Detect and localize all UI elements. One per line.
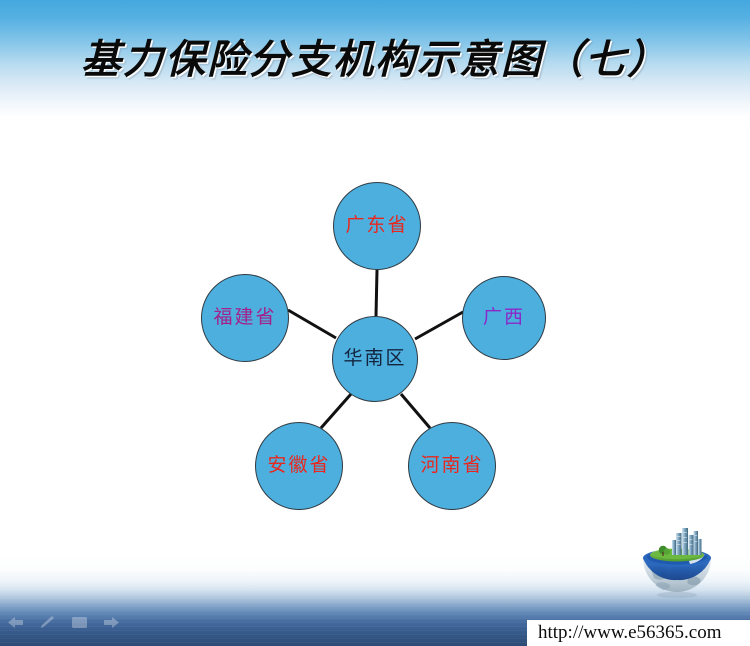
diagram-node-center[interactable]: 华南区 <box>332 316 418 402</box>
nav-forward-arrow-icon[interactable] <box>102 615 121 630</box>
diagram-node-guangxi[interactable]: 广西 <box>462 276 546 360</box>
edge-center-fujian <box>288 310 336 338</box>
diagram-node-fujian-label: 福建省 <box>213 308 276 327</box>
edge-center-henan <box>401 394 430 428</box>
diagram-node-center-label: 华南区 <box>343 349 406 368</box>
presentation-slide: 基力保险分支机构示意图（七） 华南区 广东省 福建省 广西 安徽省 河南省 <box>0 0 750 646</box>
nav-slide-icon[interactable] <box>70 615 89 630</box>
edge-center-anhui <box>321 394 351 428</box>
diagram-node-anhui[interactable]: 安徽省 <box>255 422 343 510</box>
watermark-url-plate: http://www.e56365.com <box>527 620 750 646</box>
diagram-node-henan-label: 河南省 <box>420 456 483 475</box>
diagram-node-fujian[interactable]: 福建省 <box>201 274 289 362</box>
nav-back-arrow-icon[interactable] <box>6 615 25 630</box>
edge-center-guangxi <box>415 312 463 339</box>
diagram-node-guangdong-label: 广东省 <box>345 216 408 235</box>
diagram-node-guangxi-label: 广西 <box>483 308 525 327</box>
earth-city-globe-icon <box>637 525 717 603</box>
edge-center-guangdong <box>376 270 377 316</box>
nav-pen-icon[interactable] <box>38 615 57 630</box>
diagram-node-henan[interactable]: 河南省 <box>408 422 496 510</box>
diagram-node-guangdong[interactable]: 广东省 <box>333 182 421 270</box>
watermark-url-text: http://www.e56365.com <box>538 622 721 644</box>
diagram-node-anhui-label: 安徽省 <box>267 456 330 475</box>
slideshow-nav-icons[interactable] <box>6 612 118 632</box>
